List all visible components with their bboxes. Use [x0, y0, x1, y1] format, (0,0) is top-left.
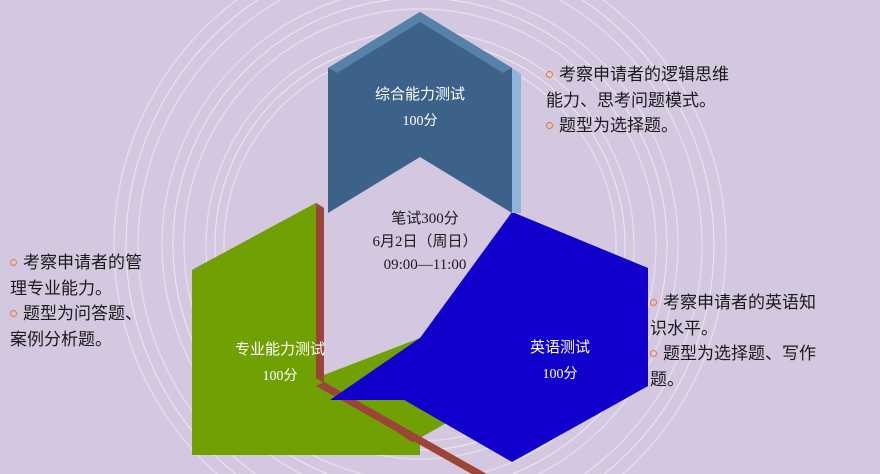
infographic-canvas: 综合能力测试 100分 专业能力测试 100分 英语测试 100分 笔试300分…	[0, 0, 880, 474]
annotation-continuation-line: 案例分析题。	[10, 327, 225, 353]
center-summary-line-3: 09:00—11:00	[330, 254, 520, 277]
annotation-bullet-line: 考察申请者的英语知	[650, 290, 880, 316]
annotation-bullet-line: 题型为选择题。	[546, 113, 876, 139]
center-summary-line-2: 6月2日（周日）	[330, 231, 520, 254]
segment-comprehensive-depth-edge	[512, 68, 521, 213]
hollow-circle-bullet-icon	[650, 299, 657, 306]
annotation-bullet-line: 题型为问答题、	[10, 301, 225, 327]
annotation-continuation-line: 识水平。	[650, 316, 880, 342]
center-summary: 笔试300分 6月2日（周日） 09:00—11:00	[330, 208, 520, 276]
hollow-circle-bullet-icon	[10, 310, 17, 317]
hollow-circle-bullet-icon	[10, 259, 17, 266]
hollow-circle-bullet-icon	[650, 350, 657, 357]
annotation-text: 能力、思考问题模式。	[546, 91, 716, 110]
annotation-bullet-line: 考察申请者的逻辑思维	[546, 62, 876, 88]
annotation-text: 题型为选择题、写作	[663, 344, 816, 363]
annotation-text: 题。	[650, 370, 684, 389]
annotation-continuation-line: 能力、思考问题模式。	[546, 88, 876, 114]
annotation-bullet-line: 考察申请者的管	[10, 250, 225, 276]
annotation-professional: 考察申请者的管理专业能力。题型为问答题、案例分析题。	[10, 250, 225, 352]
segment-professional-top-bevel	[316, 203, 324, 382]
annotation-text: 考察申请者的逻辑思维	[559, 65, 729, 84]
annotation-text: 识水平。	[650, 319, 718, 338]
center-summary-line-1: 笔试300分	[330, 208, 520, 231]
annotation-text: 题型为问答题、	[23, 304, 142, 323]
annotation-bullet-line: 题型为选择题、写作	[650, 341, 880, 367]
annotation-english: 考察申请者的英语知识水平。题型为选择题、写作题。	[650, 290, 880, 392]
annotation-continuation-line: 理专业能力。	[10, 276, 225, 302]
annotation-text: 考察申请者的管	[23, 253, 142, 272]
annotation-comprehensive: 考察申请者的逻辑思维能力、思考问题模式。题型为选择题。	[546, 62, 876, 139]
segment-comprehensive-face	[328, 12, 512, 213]
hollow-circle-bullet-icon	[546, 71, 553, 78]
annotation-text: 考察申请者的英语知	[663, 293, 816, 312]
segment-comprehensive[interactable]	[328, 12, 521, 213]
annotation-text: 题型为选择题。	[559, 116, 678, 135]
annotation-text: 案例分析题。	[10, 330, 112, 349]
annotation-text: 理专业能力。	[10, 279, 112, 298]
annotation-continuation-line: 题。	[650, 367, 880, 393]
hollow-circle-bullet-icon	[546, 122, 553, 129]
